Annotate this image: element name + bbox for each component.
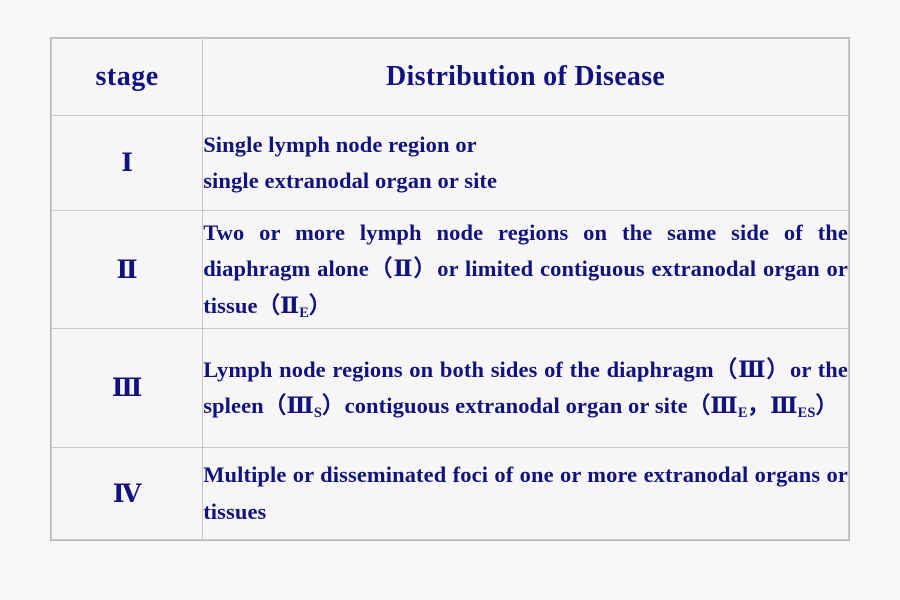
description-text-part: ，Ⅲ [748,393,798,418]
page-root: stage Distribution of Disease Ⅰ Single l… [0,0,900,600]
stage-description-one: Single lymph node region or single extra… [203,116,849,211]
stage-label-two: Ⅱ [52,211,203,329]
subscript-group: E，ⅢES） [738,393,838,418]
stage-label-four: Ⅳ [52,448,203,540]
description-text-part: ） [309,293,332,318]
subscript-group: S [314,393,322,418]
description-text-part: ） [815,393,838,418]
table-header-row: stage Distribution of Disease [52,39,849,116]
table-row: Ⅰ Single lymph node region or single ext… [52,116,849,211]
description-line-2: single extranodal organ or site [203,168,497,193]
stage-description-three: Lymph node regions on both sides of the … [203,329,849,448]
stage-label-one: Ⅰ [52,116,203,211]
description-text-part: Multiple or disseminated foci of one or … [203,462,848,523]
column-header-distribution: Distribution of Disease [203,39,849,116]
description-text-part: ）contiguous extranodal organ or site（Ⅲ [322,393,738,418]
stage-description-two: Two or more lymph node regions on the sa… [203,211,849,329]
subscript-es: ES [798,405,816,421]
subscript-e: E [299,305,309,321]
subscript-e: E [738,405,748,421]
column-header-stage: stage [52,39,203,116]
subscript-s: S [314,405,322,421]
table-row: Ⅲ Lymph node regions on both sides of th… [52,329,849,448]
subscript-group: E） [299,293,331,318]
stage-label-three: Ⅲ [52,329,203,448]
disease-staging-table: stage Distribution of Disease Ⅰ Single l… [51,38,849,540]
table-row: Ⅱ Two or more lymph node regions on the … [52,211,849,329]
table-row: Ⅳ Multiple or disseminated foci of one o… [52,448,849,540]
stage-description-four: Multiple or disseminated foci of one or … [203,448,849,540]
description-line-1: Single lymph node region or [203,132,477,157]
